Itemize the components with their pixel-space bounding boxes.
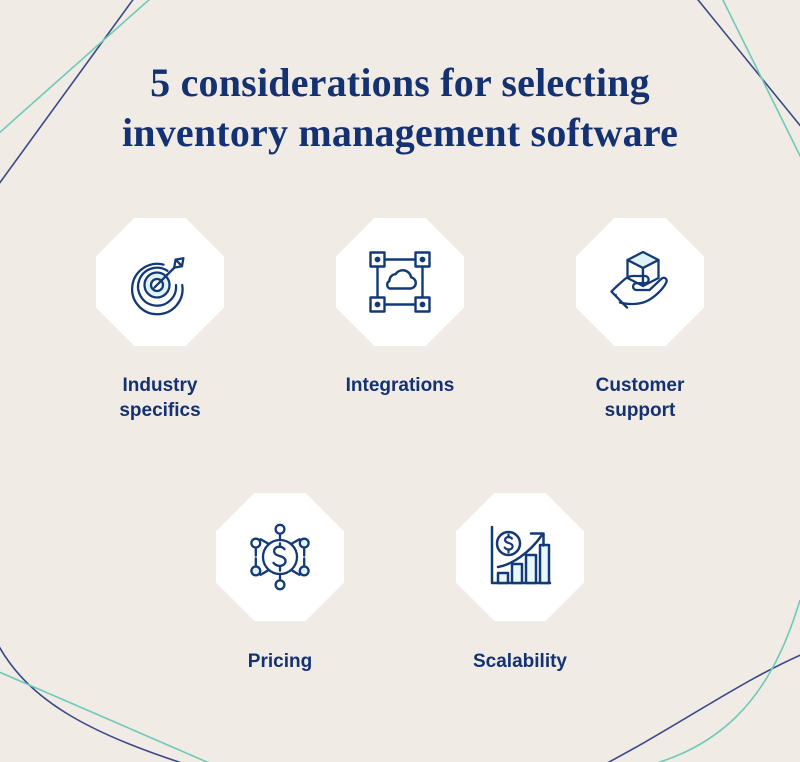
consideration-label-integrations: Integrations <box>346 373 455 398</box>
consideration-row-bottom: Pricing <box>0 493 800 674</box>
consideration-item-industry-specifics: Industry specifics <box>40 218 280 423</box>
target-arrow-icon <box>123 245 197 319</box>
hand-holding-box-icon <box>603 245 677 319</box>
icon-tile-pricing <box>216 493 344 621</box>
page-title-line-2: inventory management software <box>0 108 800 158</box>
consideration-item-customer-support: Customer support <box>520 218 760 423</box>
consideration-row-top: Industry specifics <box>0 218 800 423</box>
icon-tile-industry-specifics <box>96 218 224 346</box>
consideration-label-industry-specifics: Industry specifics <box>85 373 235 423</box>
dollar-network-icon <box>244 521 316 593</box>
icon-tile-scalability <box>456 493 584 621</box>
growth-bar-chart-icon <box>484 521 556 593</box>
infographic-poster: 5 considerations for selecting inventory… <box>0 0 800 762</box>
cloud-network-nodes-icon <box>365 247 435 317</box>
consideration-item-scalability: Scalability <box>400 493 640 674</box>
consideration-item-pricing: Pricing <box>160 493 400 674</box>
page-title: 5 considerations for selecting inventory… <box>0 58 800 158</box>
consideration-label-pricing: Pricing <box>248 649 312 674</box>
icon-tile-customer-support <box>576 218 704 346</box>
page-title-line-1: 5 considerations for selecting <box>0 58 800 108</box>
consideration-item-integrations: Integrations <box>280 218 520 423</box>
consideration-label-scalability: Scalability <box>473 649 567 674</box>
icon-tile-integrations <box>336 218 464 346</box>
consideration-label-customer-support: Customer support <box>565 373 715 423</box>
